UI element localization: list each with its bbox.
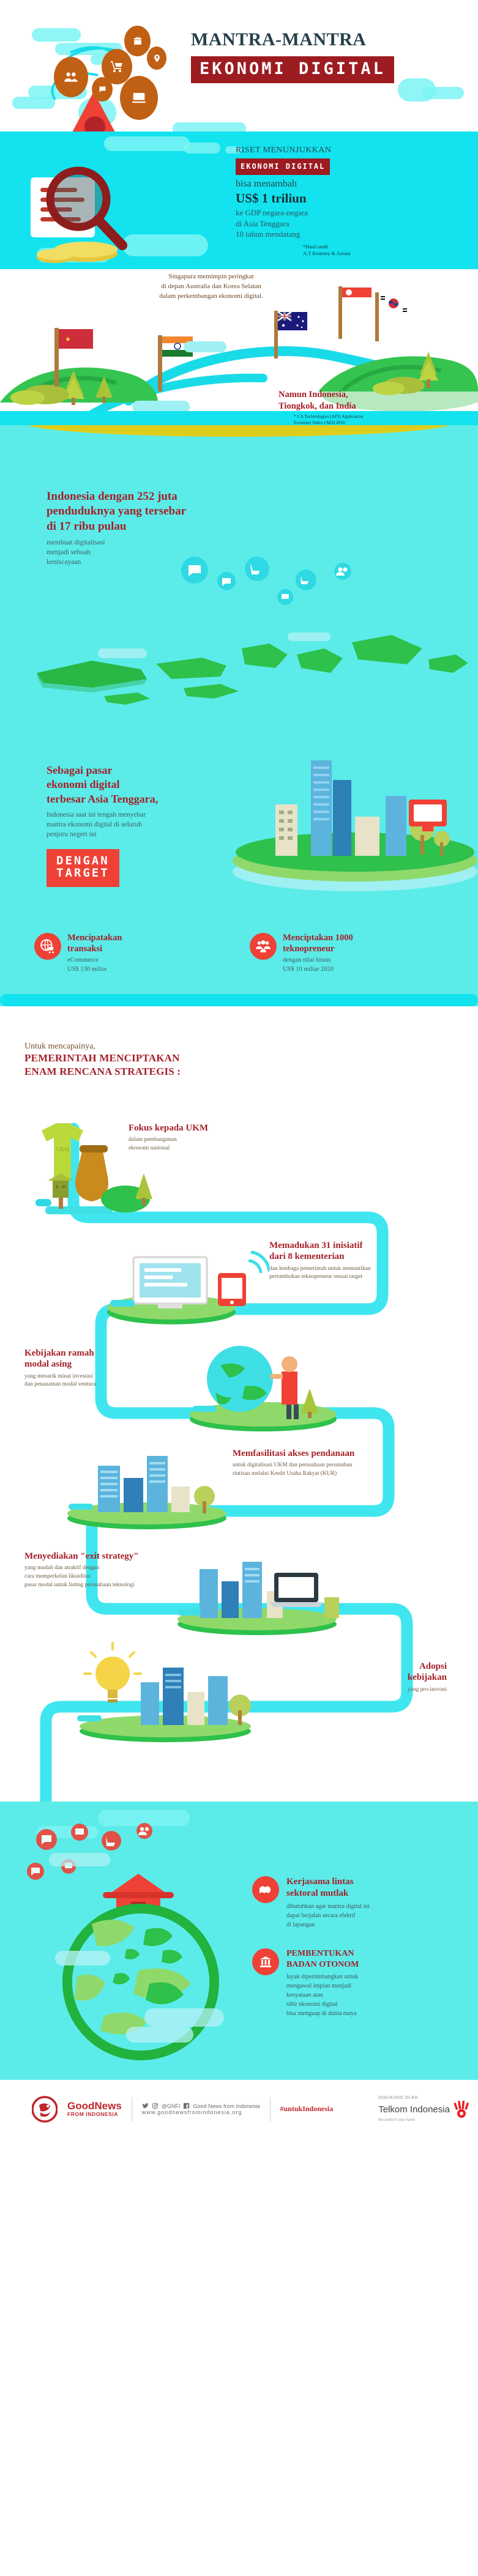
step-6-title-2: kebijakan bbox=[288, 1672, 447, 1683]
city-island-illustration bbox=[202, 743, 478, 896]
briefcase-icon bbox=[124, 26, 151, 56]
footer-supported-by: DIDUKUNG OLEH bbox=[378, 2096, 469, 2100]
riset-detail-2: di Asia Tenggara bbox=[236, 218, 419, 229]
riset-source-note: *Hasil studi A.T Kearney & Axiata bbox=[303, 243, 350, 258]
riset-lcd-banner: EKONOMI DIGITAL bbox=[236, 158, 330, 175]
hero-connector-lines bbox=[6, 17, 190, 130]
people-group-icon bbox=[250, 933, 277, 960]
footer-website[interactable]: www.goodnewsfromindonesia.org bbox=[142, 2109, 260, 2115]
step-1: Fokus kepada UKM dalam pembangunan ekono… bbox=[129, 1123, 300, 1153]
telkom-logo-icon bbox=[454, 2100, 469, 2118]
closing-2-sub-2: mengawal impian menjadi bbox=[286, 1981, 359, 1991]
stat-2-title-1: Menciptakan 1000 bbox=[283, 933, 353, 944]
lightbulb-city-icon bbox=[73, 1639, 257, 1743]
stat-2-sub-1: dengan nilai bisnis bbox=[283, 956, 353, 965]
footer-hashtag: #untukIndonesia bbox=[280, 2104, 334, 2114]
step-5-sub-2: cara memperkelan likuiditas bbox=[24, 1573, 208, 1581]
step-2-title-1: Memadukan 31 inisiatif bbox=[269, 1240, 453, 1251]
hero-section: MANTRA-MANTRA EKONOMI DIGITAL bbox=[0, 0, 478, 132]
strategis-intro-1: Untuk mencapainya, bbox=[24, 1042, 181, 1052]
indo-sub-1: membuat digitalisasi bbox=[47, 538, 273, 547]
stat-2-title-2: teknopreneur bbox=[283, 944, 353, 955]
footer-brand-sub: FROM INDONESIA bbox=[67, 2111, 122, 2117]
svg-text:UKM: UKM bbox=[56, 1146, 69, 1153]
riset-note-1: *Hasil studi bbox=[303, 243, 350, 250]
instagram-icon[interactable] bbox=[152, 2103, 159, 2109]
step-3-sub-2: dan penanaman modal ventura bbox=[24, 1381, 202, 1389]
hero-lcd-banner: EKONOMI DIGITAL bbox=[191, 56, 394, 83]
riset-lcd-text: EKONOMI DIGITAL bbox=[241, 162, 325, 171]
step-6: Adopsi kebijakan yang pro-inovasi bbox=[288, 1661, 447, 1694]
closing-item-kerjasama: Kerjasama lintas sektoral mutlak dibutuh… bbox=[252, 1876, 466, 1929]
footer: GoodNews FROM INDONESIA @GNFI Good News … bbox=[0, 2080, 478, 2138]
strategis-intro-3: ENAM RENCANA STRATEGIS : bbox=[24, 1065, 181, 1078]
footer-social-handle[interactable]: @GNFI bbox=[162, 2103, 181, 2109]
riset-section: RISET MENUNJUKKAN EKONOMI DIGITAL bisa m… bbox=[0, 132, 478, 269]
infographic-page: MANTRA-MANTRA EKONOMI DIGITAL RISET MENU… bbox=[0, 0, 478, 2138]
closing-1-sub-1: dibutuhkan agar mantra digital ini bbox=[286, 1902, 370, 1911]
step-5-sub-3: pasar modal untuk listing perusahaan tek… bbox=[24, 1581, 208, 1590]
riset-heading: RISET MENUNJUKKAN bbox=[236, 146, 419, 155]
flags-source-1: * CA Technologies (APJ) Application bbox=[294, 414, 364, 420]
closing-1-title-1: Kerjasama lintas bbox=[286, 1876, 370, 1888]
target-lcd-line-2: TARGET bbox=[56, 867, 110, 880]
globe-cart-icon bbox=[34, 933, 61, 960]
step-3: Kebijakan ramah modal asing yang menarik… bbox=[24, 1348, 202, 1389]
stat-1-title-2: transaksi bbox=[67, 944, 122, 955]
stat-card-transaksi: Mencipatakan transaksi eCommerce US$ 130… bbox=[34, 933, 236, 974]
step-1-sub-2: ekonomi nasional bbox=[129, 1145, 300, 1153]
monitor-wifi-icon bbox=[104, 1233, 269, 1324]
closing-2-sub-1: layak dipertimbangkan untuk bbox=[286, 1972, 359, 1981]
step-5: Menyediakan "exit strategy" yang mudah d… bbox=[24, 1551, 208, 1590]
footer-facebook[interactable]: Good News from Indonesia bbox=[193, 2103, 260, 2109]
closing-2-sub-5: bisa menguap di dunia maya bbox=[286, 2009, 359, 2018]
strategis-section: Untuk mencapainya, PEMERINTAH MENCIPTAKA… bbox=[0, 1006, 478, 1802]
footer-partner-name: Telkom Indonesia bbox=[378, 2104, 450, 2115]
footer-divider-1 bbox=[132, 2097, 132, 2121]
strategis-intro: Untuk mencapainya, PEMERINTAH MENCIPTAKA… bbox=[24, 1042, 181, 1078]
hero-lcd-text: EKONOMI DIGITAL bbox=[200, 61, 386, 78]
riset-text-block: RISET MENUNJUKKAN EKONOMI DIGITAL bisa m… bbox=[236, 146, 419, 240]
target-lcd-line-1: DENGAN bbox=[56, 855, 110, 867]
globe-indonesia-illustration bbox=[18, 1820, 300, 2065]
step-3-title-1: Kebijakan ramah bbox=[24, 1348, 202, 1359]
flags-caption: Singapura memimpin peringkat di depan Au… bbox=[116, 272, 306, 302]
step-2: Memadukan 31 inisiatif dari 8 kementeria… bbox=[269, 1240, 453, 1282]
step-4-sub-2: rintisan melalui Kredit Usaha Rakyat (KU… bbox=[233, 1470, 441, 1479]
closing-2-title-2: BADAN OTONOM bbox=[286, 1959, 359, 1970]
flags-section: ★ Singapura memimpin peringkat di depan … bbox=[0, 269, 478, 425]
location-pin-icon bbox=[147, 46, 166, 70]
page-title: MANTRA-MANTRA bbox=[191, 29, 366, 50]
step-5-sub-1: yang mudah dan atraktif dengan bbox=[24, 1564, 208, 1573]
facebook-icon[interactable] bbox=[183, 2103, 190, 2109]
step-6-title-1: Adopsi bbox=[288, 1661, 447, 1672]
indonesia-headline: Indonesia dengan 252 juta penduduknya ya… bbox=[47, 489, 273, 567]
stat-2-sub-2: US$ 10 miliar 2020 bbox=[283, 965, 353, 974]
step-6-sub-1: yang pro-inovasi bbox=[288, 1686, 447, 1694]
people-icon bbox=[54, 57, 88, 97]
closing-1-sub-3: di lapangan bbox=[286, 1920, 370, 1929]
riset-note-2: A.T Kearney & Axiata bbox=[303, 250, 350, 257]
closing-item-badan-otonom: PEMBENTUKAN BADAN OTONOM layak dipertimb… bbox=[252, 1948, 466, 2018]
city-buildings-icon bbox=[61, 1438, 233, 1529]
indo-head-3: di 17 ribu pulau bbox=[47, 519, 273, 534]
step-3-title-2: modal asing bbox=[24, 1359, 202, 1370]
dengan-target-banner: DENGAN TARGET bbox=[47, 849, 119, 887]
flags-source-2: Economy Index (AEI) 2016 bbox=[294, 420, 364, 425]
indo-head-1: Indonesia dengan 252 juta bbox=[47, 489, 273, 504]
stat-1-sub-1: eCommerce bbox=[67, 956, 122, 965]
chat-icon bbox=[92, 77, 113, 102]
step-5-title-1: Menyediakan "exit strategy" bbox=[24, 1551, 208, 1562]
step-1-title-1: Fokus kepada UKM bbox=[129, 1123, 300, 1134]
indo-head-2: penduduknya yang tersebar bbox=[47, 504, 273, 519]
footer-brand-name: GoodNews bbox=[67, 2101, 122, 2111]
indonesia-map-illustration bbox=[0, 557, 478, 752]
riset-big-figure: US$ 1 triliun bbox=[236, 191, 419, 206]
source-band bbox=[0, 411, 478, 425]
globe-person-icon bbox=[184, 1334, 343, 1431]
riset-sub: bisa menambah bbox=[236, 179, 419, 190]
indonesia-section: Indonesia dengan 252 juta penduduknya ya… bbox=[0, 425, 478, 1006]
footer-divider-2 bbox=[270, 2097, 271, 2121]
step-4-sub-1: untuk digitalisasi UKM dan perusahaan pe… bbox=[233, 1461, 441, 1470]
closing-1-title-2: sektoral mutlak bbox=[286, 1888, 370, 1899]
gnfi-logo-icon bbox=[32, 2095, 58, 2123]
flags-source: * CA Technologies (APJ) Application Econ… bbox=[294, 414, 364, 425]
step-2-title-2: dari 8 kementerian bbox=[269, 1251, 453, 1262]
strategis-intro-2: PEMERINTAH MENCIPTAKAN bbox=[24, 1052, 181, 1065]
flags-highlight-2: Tiongkok, dan India bbox=[278, 401, 462, 412]
step-4: Memfasilitasi akses pendanaan untuk digi… bbox=[233, 1448, 441, 1479]
step-4-title-1: Memfasilitasi akses pendanaan bbox=[233, 1448, 441, 1459]
twitter-icon[interactable] bbox=[142, 2103, 149, 2109]
stat-card-teknopreneur: Menciptakan 1000 teknopreneur dengan nil… bbox=[250, 933, 458, 974]
laptop-icon bbox=[120, 76, 158, 120]
svg-text:★: ★ bbox=[65, 335, 71, 343]
building-bank-icon bbox=[252, 1948, 279, 1975]
riset-detail-1: ke GDP negara-negara bbox=[236, 207, 419, 218]
stat-1-title-1: Mencipatakan bbox=[67, 933, 122, 944]
closing-1-sub-2: dapat berjalan secara efektif bbox=[286, 1911, 370, 1920]
step-2-sub-1: dan lembaga pemerintah untuk memastikan bbox=[269, 1265, 453, 1274]
flags-caption-line-2: di depan Australia dan Korea Selatan bbox=[116, 282, 306, 292]
flags-highlight-1: Namun Indonesia, bbox=[278, 389, 462, 401]
magnifier-icon bbox=[12, 150, 165, 266]
riset-detail-3: 10 tahun mendatang bbox=[236, 229, 419, 240]
step-3-sub-1: yang menarik minat investasi bbox=[24, 1373, 202, 1381]
footer-partner-tagline: the world in your hand bbox=[378, 2118, 469, 2122]
stat-1-sub-2: US$ 130 miliar bbox=[67, 965, 122, 974]
step-1-sub-1: dalam pembangunan bbox=[129, 1136, 300, 1145]
step-2-sub-2: pertumbuhan teknopreneur sesuai target bbox=[269, 1273, 453, 1282]
closing-2-sub-4: sihir ekonomi digital bbox=[286, 2000, 359, 2009]
closing-2-title-1: PEMBENTUKAN bbox=[286, 1948, 359, 1959]
flags-caption-line-1: Singapura memimpin peringkat bbox=[116, 272, 306, 282]
closing-section: Kerjasama lintas sektoral mutlak dibutuh… bbox=[0, 1802, 478, 2080]
handshake-icon bbox=[252, 1876, 279, 1903]
indo-sub-2: menjadi sebuah bbox=[47, 547, 273, 557]
flags-caption-line-3: dalam perkembangan ekonomi digital. bbox=[116, 292, 306, 302]
closing-2-sub-3: kenyataan atau bbox=[286, 1991, 359, 2000]
